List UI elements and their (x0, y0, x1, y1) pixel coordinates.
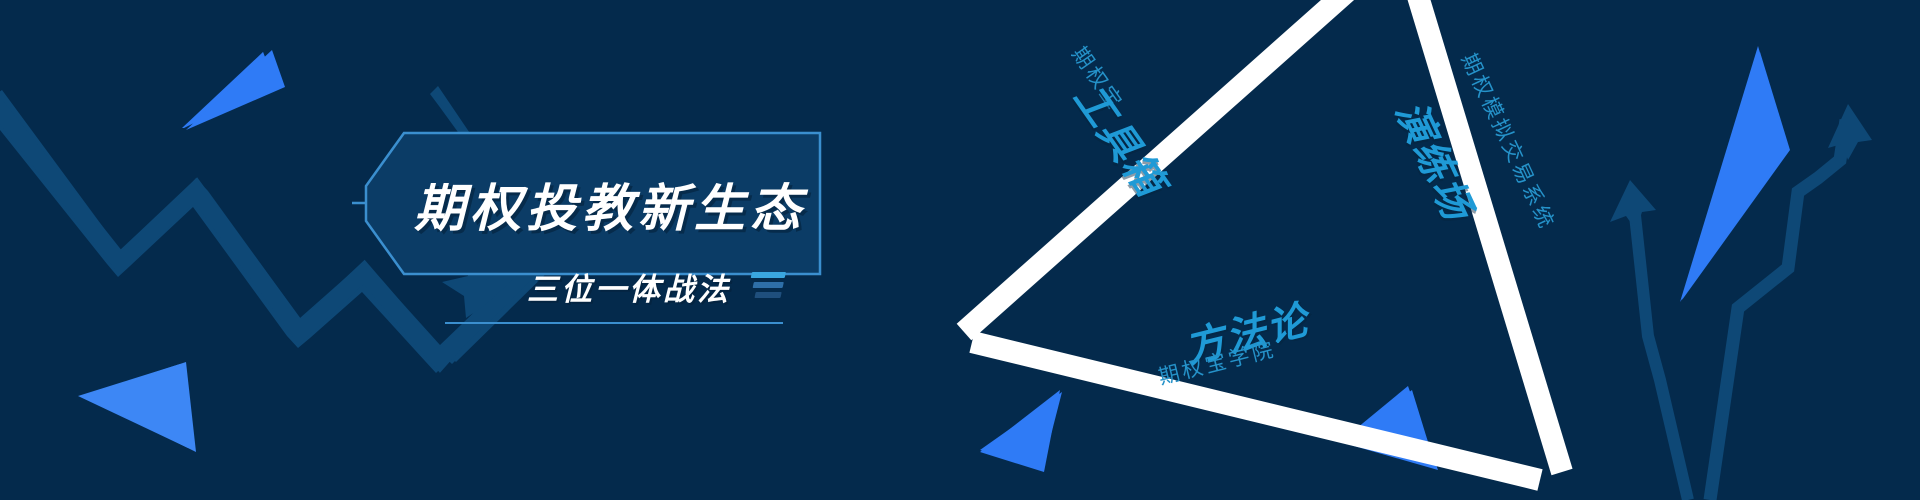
bars-icon-bar-middle (753, 282, 784, 288)
subtitle-divider (445, 322, 783, 324)
foreground-shapes (0, 0, 1920, 500)
deco-triangle-top-left (186, 50, 285, 130)
subtitle-row: 三位一体战法 (443, 258, 783, 314)
bars-icon-bar-top (751, 272, 786, 278)
subtitle-block: 三位一体战法 (443, 258, 783, 346)
deco-triangle-top-right (1680, 46, 1788, 302)
page-title: 期权投教新生态 (410, 131, 810, 276)
promo-banner: 期权投教新生态 三位一体战法 期权宝 工具箱 期权模拟交易系统 演练场 方法论 … (0, 0, 1920, 500)
bars-icon-bar-bottom (754, 292, 781, 298)
subtitle-text: 三位一体战法 (527, 264, 731, 309)
bars-icon (746, 272, 786, 300)
deco-triangle-bottom-center (980, 390, 1060, 472)
deco-triangle-bottom-left (82, 362, 196, 452)
headline-badge: 期权投教新生态 (352, 131, 822, 276)
